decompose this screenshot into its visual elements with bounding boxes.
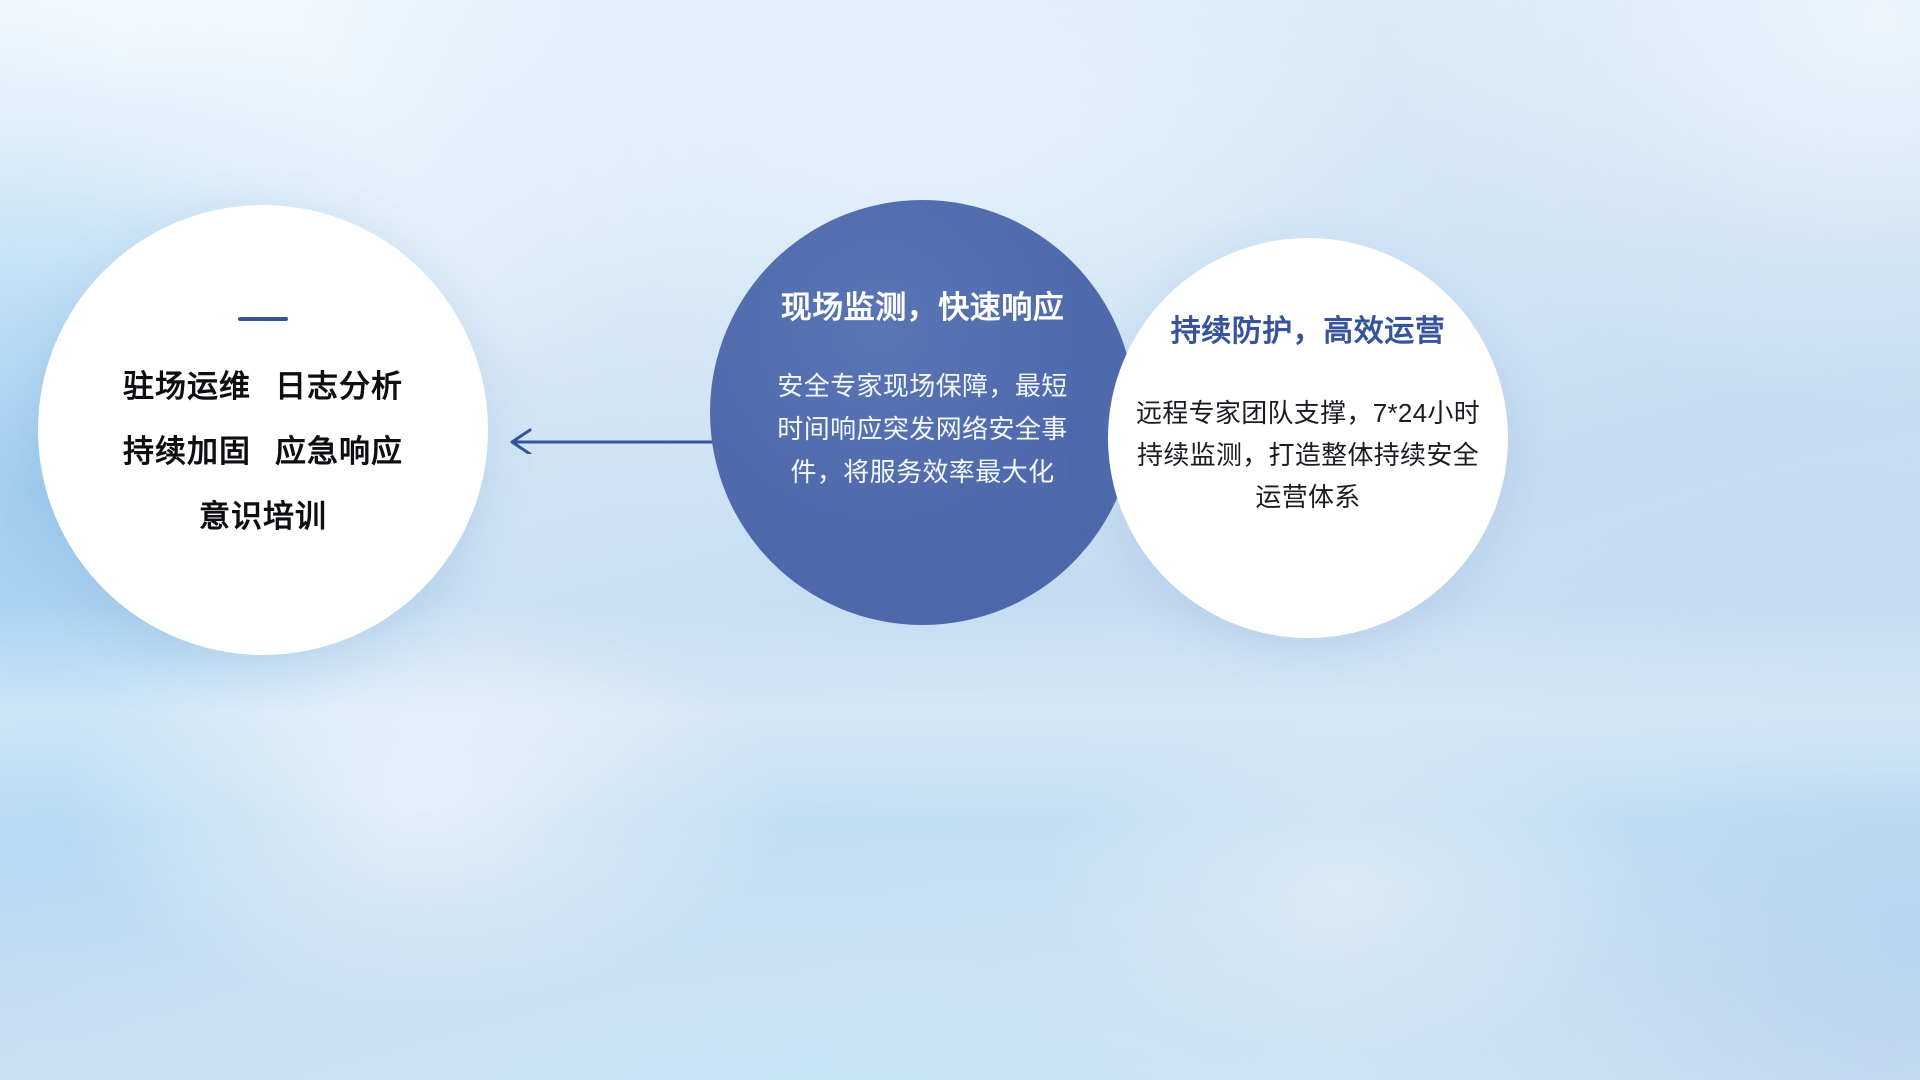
slide-canvas: 驻场运维日志分析 持续加固应急响应 意识培训 现场监测，快速响应 安全专家现场保… <box>0 0 1920 1080</box>
capability-label: 持续加固 <box>123 434 251 469</box>
capability-label: 应急响应 <box>275 434 403 469</box>
circle-body: 远程专家团队支撑，7*24小时持续监测，打造整体持续安全运营体系 <box>1129 392 1487 518</box>
capability-label: 意识培训 <box>199 499 327 534</box>
circle-title: 现场监测，快速响应 <box>781 282 1065 327</box>
onsite-monitoring-circle: 现场监测，快速响应 安全专家现场保障，最短时间响应突发网络安全事件，将服务效率最… <box>710 200 1135 625</box>
continuous-protection-circle: 持续防护，高效运营 远程专家团队支撑，7*24小时持续监测，打造整体持续安全运营… <box>1108 238 1508 638</box>
circle-title: 持续防护，高效运营 <box>1171 306 1446 350</box>
divider-dash <box>238 317 288 321</box>
capabilities-circle: 驻场运维日志分析 持续加固应急响应 意识培训 <box>38 205 488 655</box>
capability-label: 驻场运维 <box>123 369 251 404</box>
list-item: 意识培训 <box>199 491 327 536</box>
connector-arrow <box>490 420 720 459</box>
capability-label: 日志分析 <box>275 369 403 404</box>
capability-list: 驻场运维日志分析 持续加固应急响应 意识培训 <box>123 361 403 536</box>
list-item: 驻场运维日志分析 <box>123 361 403 406</box>
list-item: 持续加固应急响应 <box>123 426 403 471</box>
circle-body: 安全专家现场保障，最短时间响应突发网络安全事件，将服务效率最大化 <box>773 365 1073 494</box>
